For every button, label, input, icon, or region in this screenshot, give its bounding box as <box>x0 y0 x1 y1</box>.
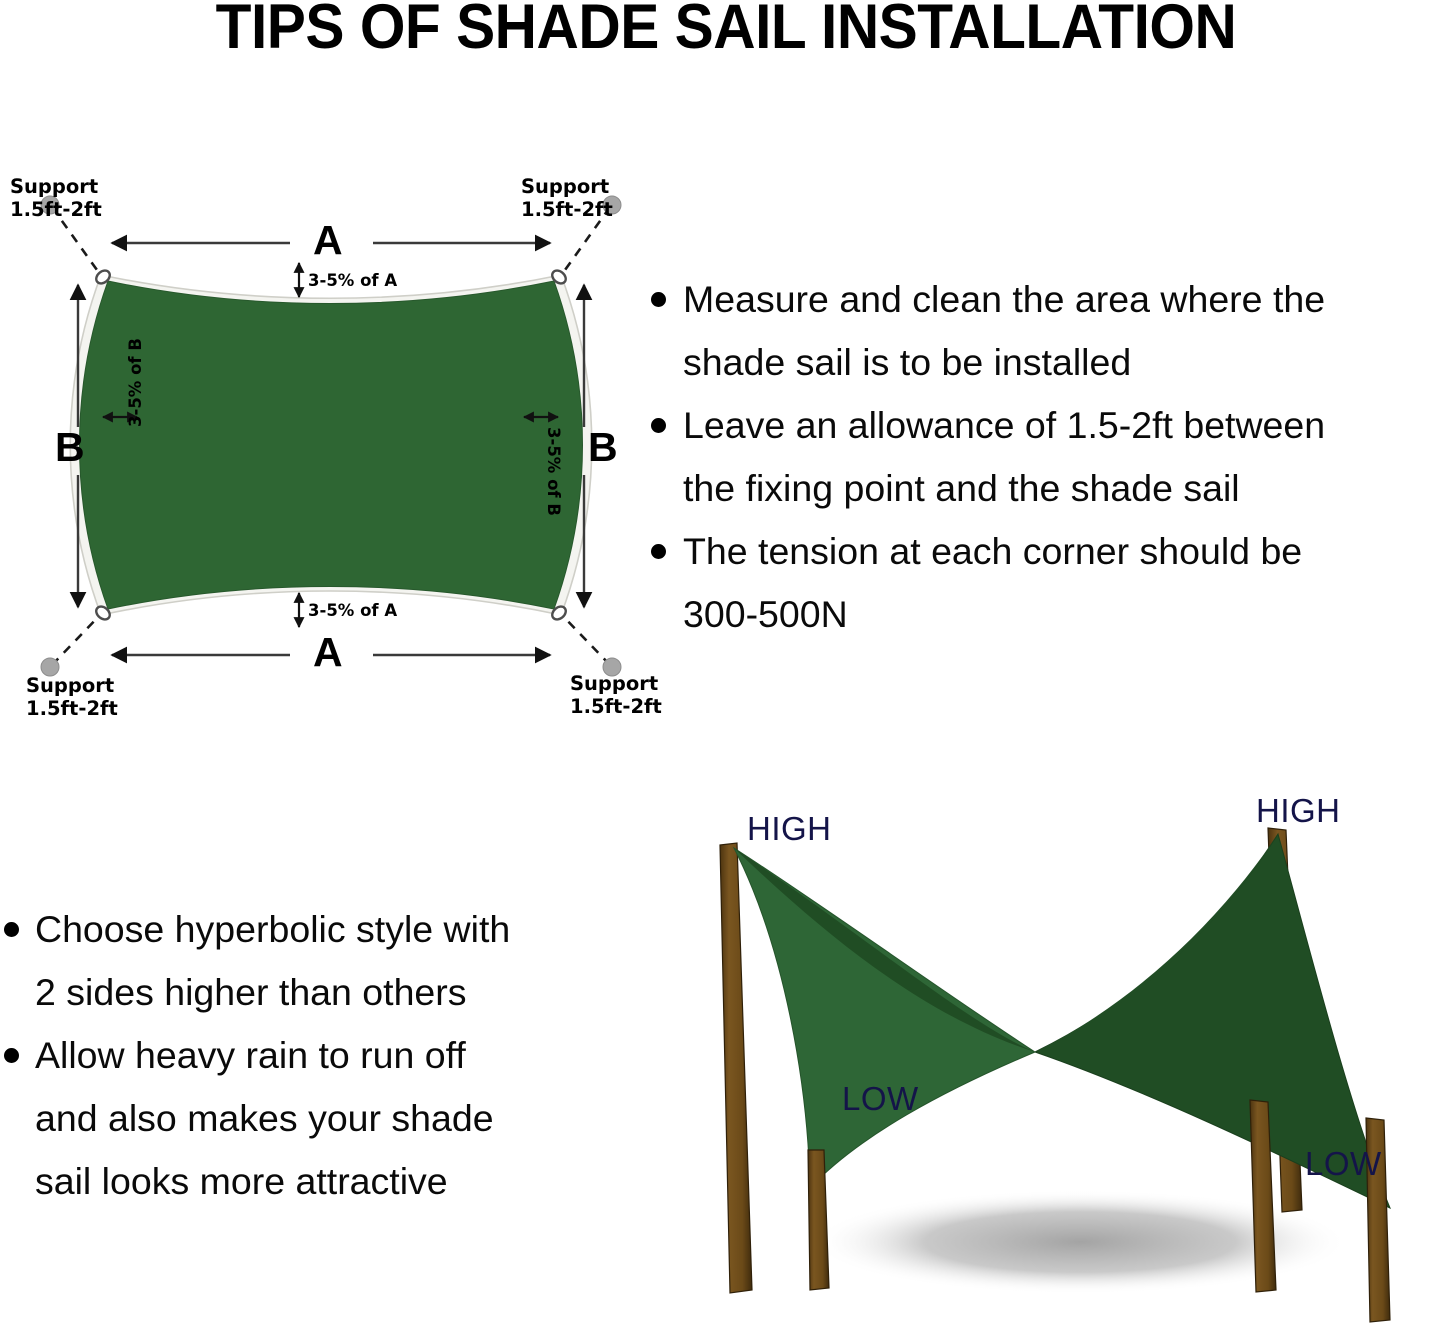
bullet-dot-icon <box>651 418 666 433</box>
post-label-high-right: HIGH <box>1256 792 1341 830</box>
support-label-line1: Support <box>26 674 118 697</box>
list-item-text: The tension at each corner should be <box>683 520 1302 583</box>
hyperbolic-sail-svg <box>690 790 1452 1325</box>
list-item-text: Choose hyperbolic style with <box>35 898 510 961</box>
page-title: TIPS OF SHADE SAIL INSTALLATION <box>51 0 1401 60</box>
dimension-letter-B-left: B <box>55 427 85 468</box>
post-label-high-left: HIGH <box>747 810 832 848</box>
list-item-text-cont: 2 sides higher than others <box>4 961 634 1024</box>
hyperbolic-tips-list: Choose hyperbolic style with 2 sides hig… <box>4 898 634 1213</box>
bullet-dot-icon <box>651 292 666 307</box>
curve-percent-label-right: 3-5% of B <box>545 427 562 516</box>
list-item-text-cont: shade sail is to be installed <box>651 331 1451 394</box>
list-item: Leave an allowance of 1.5-2ft between <box>651 394 1451 457</box>
rectangular-sail-diagram: Support 1.5ft-2ft Support 1.5ft-2ft Supp… <box>0 165 660 735</box>
support-label-line2: 1.5ft-2ft <box>10 198 102 221</box>
support-label-top-right: Support 1.5ft-2ft <box>521 175 613 221</box>
curve-percent-label-bottom: 3-5% of A <box>308 603 397 620</box>
list-item-text-cont: 300-500N <box>651 583 1451 646</box>
list-item: Measure and clean the area where the <box>651 268 1451 331</box>
curve-percent-label-left-wrap: 3-5% of B <box>128 427 217 444</box>
bullet-dot-icon <box>4 922 19 937</box>
support-label-line1: Support <box>10 175 102 198</box>
list-item: Choose hyperbolic style with <box>4 898 634 961</box>
bullet-dot-icon <box>4 1048 19 1063</box>
post-label-low-right: LOW <box>1305 1145 1382 1183</box>
support-label-bottom-right: Support 1.5ft-2ft <box>570 672 662 718</box>
support-label-bottom-left: Support 1.5ft-2ft <box>26 674 118 720</box>
curve-percent-label-right-wrap: 3-5% of B <box>561 427 650 444</box>
installation-tips-list: Measure and clean the area where the sha… <box>651 268 1451 646</box>
bullet-dot-icon <box>651 544 666 559</box>
list-item-text: Measure and clean the area where the <box>683 268 1325 331</box>
support-label-line2: 1.5ft-2ft <box>26 697 118 720</box>
dimension-letter-A-top: A <box>313 220 343 261</box>
list-item-text-cont: sail looks more attractive <box>4 1150 634 1213</box>
support-label-line1: Support <box>521 175 613 198</box>
support-label-line2: 1.5ft-2ft <box>521 198 613 221</box>
post-high-left <box>720 843 752 1293</box>
support-label-line2: 1.5ft-2ft <box>570 695 662 718</box>
list-item: The tension at each corner should be <box>651 520 1451 583</box>
sail-panel-front <box>734 848 1035 1188</box>
curve-percent-label-left: 3-5% of B <box>128 338 145 427</box>
list-item-text: Leave an allowance of 1.5-2ft between <box>683 394 1325 457</box>
support-label-line1: Support <box>570 672 662 695</box>
post-label-low-left: LOW <box>842 1080 919 1118</box>
sail-fabric <box>80 281 583 609</box>
curve-percent-label-top: 3-5% of A <box>308 273 397 290</box>
hyperbolic-sail-diagram: HIGH HIGH LOW LOW <box>690 790 1452 1325</box>
support-label-top-left: Support 1.5ft-2ft <box>10 175 102 221</box>
list-item-text-cont: the fixing point and the shade sail <box>651 457 1451 520</box>
dimension-letter-A-bottom: A <box>313 632 343 673</box>
list-item-text-cont: and also makes your shade <box>4 1087 634 1150</box>
list-item-text: Allow heavy rain to run off <box>35 1024 466 1087</box>
list-item: Allow heavy rain to run off <box>4 1024 634 1087</box>
